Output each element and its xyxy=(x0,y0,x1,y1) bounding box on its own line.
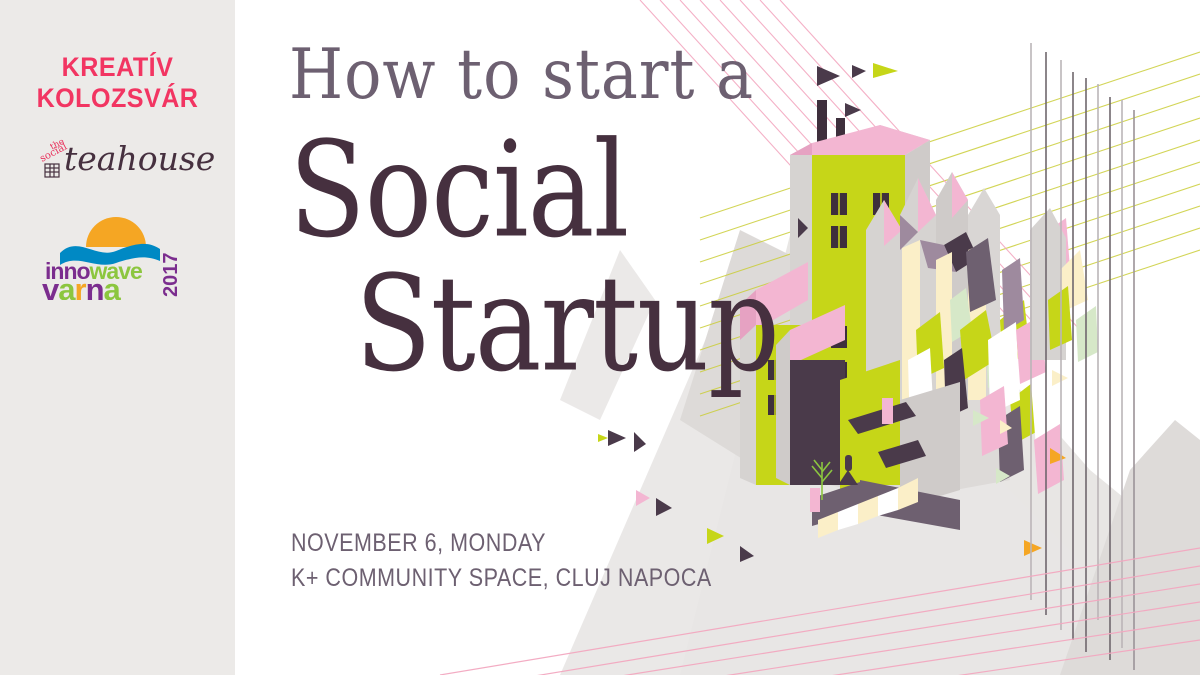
logo-kreativ-kolozsvar[interactable]: KREATÍV KOLOZSVÁR xyxy=(0,52,235,114)
sponsor-sidebar: KREATÍV KOLOZSVÁR the social xyxy=(0,0,235,675)
event-date: NOVEMBER 6, MONDAY xyxy=(291,526,712,561)
logo-the-social-teahouse[interactable]: the social teahouse xyxy=(0,128,235,190)
event-venue: K+ COMMUNITY SPACE, CLUJ NAPOCA xyxy=(291,561,712,596)
innowave-year: 2017 xyxy=(160,253,182,298)
teahouse-logo-art: the social teahouse xyxy=(0,128,235,190)
event-poster: How to start a Social Startup NOVEMBER 6… xyxy=(0,0,1200,675)
headline-kicker: How to start a xyxy=(289,40,1049,109)
logo-innowave-varna[interactable]: innowave varna 2017 xyxy=(0,205,235,300)
event-details: NOVEMBER 6, MONDAY K+ COMMUNITY SPACE, C… xyxy=(291,526,780,596)
headline-line-social: Social xyxy=(289,134,1049,247)
kreativ-line-2: KOLOZSVÁR xyxy=(8,83,227,114)
innowave-varna-art: innowave varna 2017 xyxy=(0,205,235,300)
headline-line-startup: Startup xyxy=(355,268,1049,381)
varna-wordmark: varna xyxy=(42,272,122,300)
headline-group: How to start a Social Startup xyxy=(289,40,1049,364)
sun-icon xyxy=(86,217,146,247)
teahouse-wordmark: teahouse xyxy=(64,139,215,178)
kreativ-line-1: KREATÍV xyxy=(8,52,227,83)
